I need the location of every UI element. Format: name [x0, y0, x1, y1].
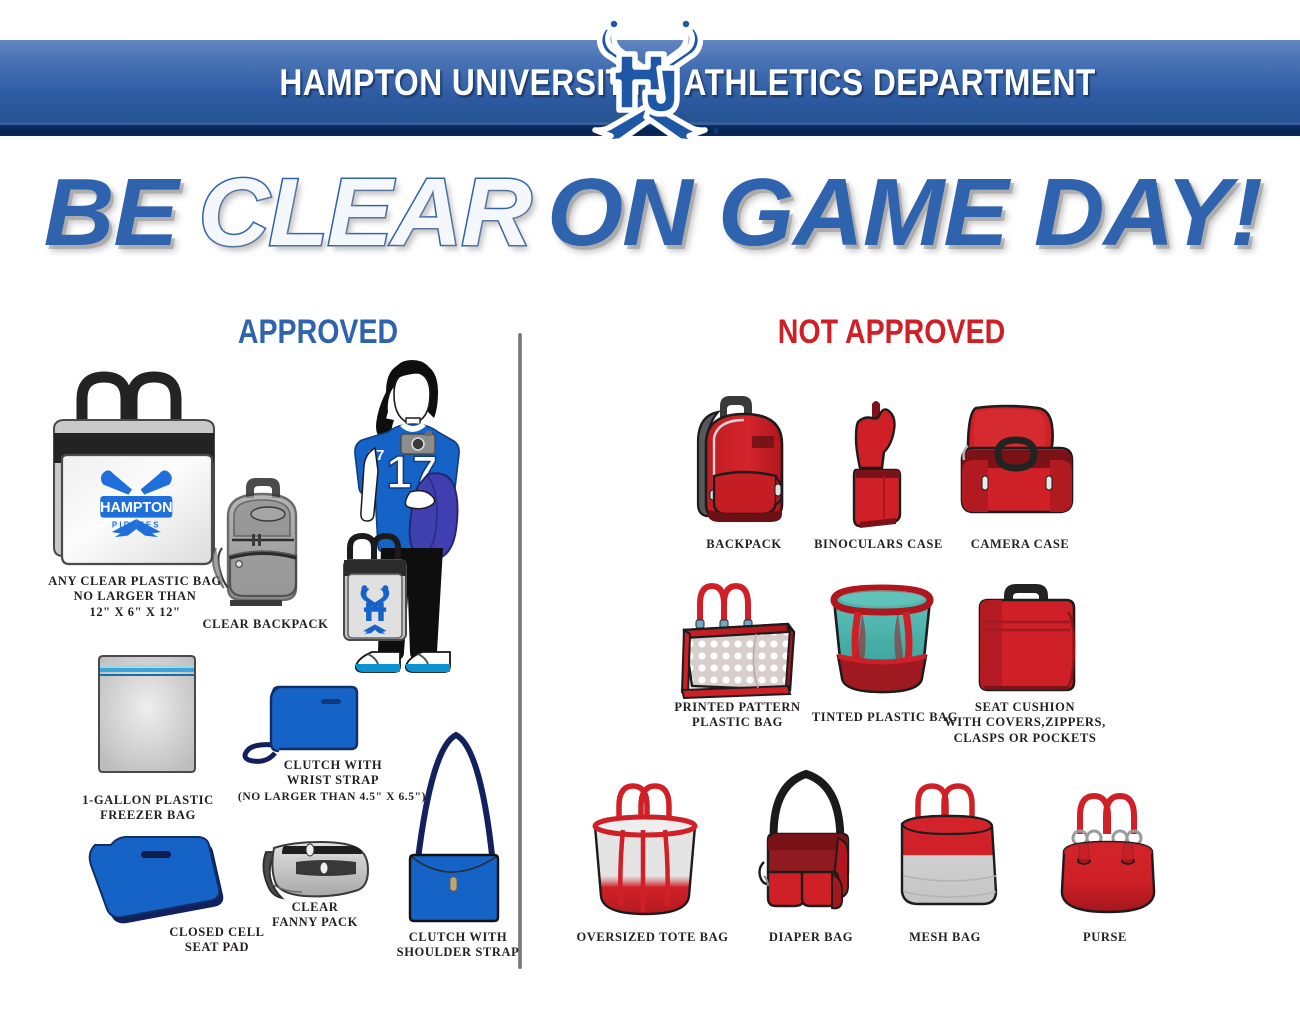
- header-left-text: HAMPTON UNIVERSITY: [279, 62, 563, 104]
- caption-mesh-bag: MESH BAG: [885, 930, 1005, 945]
- printed-pattern-plastic-bag-icon: [672, 578, 802, 703]
- title-word-clear: CLEAR: [199, 165, 531, 261]
- caption-clear-backpack: CLEAR BACKPACK: [198, 617, 333, 632]
- item-camera-case: [948, 400, 1083, 530]
- item-seat-pad: [85, 835, 225, 925]
- diaper-bag-icon: [752, 768, 862, 918]
- backpack-icon: [680, 392, 810, 532]
- clear-tote-bag-icon: HAMPTON PIRATES: [40, 355, 225, 575]
- caption-oversized-tote-bag: OVERSIZED TOTE BAG: [570, 930, 735, 945]
- item-freezer-bag: [95, 650, 200, 780]
- item-binoculars-case: [838, 398, 918, 533]
- item-clear-tote-bag: HAMPTON PIRATES: [40, 355, 225, 575]
- caption-camera-case: CAMERA CASE: [950, 537, 1090, 552]
- caption-binoculars-case: BINOCULARS CASE: [806, 537, 951, 552]
- caption-clutch-shoulder-strap: CLUTCH WITH SHOULDER STRAP: [388, 930, 528, 961]
- page-title: BE CLEAR ON GAME DAY!: [0, 165, 1300, 261]
- camera-case-icon: [948, 400, 1083, 530]
- binoculars-case-icon: [838, 398, 918, 533]
- header-right-text: ATHLETICS DEPARTMENT: [677, 62, 1021, 104]
- item-oversized-tote-bag: [585, 780, 705, 920]
- svg-text:PIRATES: PIRATES: [112, 521, 161, 530]
- item-clear-backpack: [208, 470, 323, 615]
- clutch-wrist-strap-icon: [235, 683, 360, 763]
- oversized-tote-bag-icon: [585, 780, 705, 920]
- item-purse: [1050, 790, 1165, 918]
- caption-backpack: BACKPACK: [673, 537, 815, 552]
- seat-pad-icon: [85, 835, 225, 925]
- seat-cushion-icon: [964, 578, 1084, 698]
- hampton-hu-logo-icon: ®: [573, 12, 727, 146]
- freezer-bag-icon: [95, 650, 200, 780]
- item-printed-pattern-plastic-bag: [672, 578, 802, 703]
- caption-freezer-bag: 1-GALLON PLASTIC FREEZER BAG: [78, 793, 218, 824]
- caption-printed-pattern-plastic-bag: PRINTED PATTERN PLASTIC BAG: [655, 700, 820, 731]
- poster-root: HAMPTON UNIVERSITY ATHLETICS DEPARTMENT …: [0, 0, 1300, 1014]
- caption-seat-cushion: SEAT CUSHION WITH COVERS,ZIPPERS, CLASPS…: [935, 700, 1115, 746]
- item-diaper-bag: [752, 768, 862, 918]
- item-fan-with-clear-bag: 17 17: [348, 352, 488, 712]
- caption-clutch-wrist-strap: CLUTCH WITH WRIST STRAP: [258, 758, 408, 789]
- item-tinted-plastic-bag: [822, 578, 942, 700]
- item-mesh-bag: [888, 782, 1006, 917]
- purse-icon: [1050, 790, 1165, 918]
- caption-diaper-bag: DIAPER BAG: [746, 930, 876, 945]
- clutch-shoulder-strap-icon: [400, 727, 510, 922]
- title-word-be: BE: [44, 165, 178, 261]
- fanny-pack-icon: [258, 838, 373, 908]
- tinted-plastic-bag-icon: [822, 578, 942, 700]
- caption-clear-tote-bag: ANY CLEAR PLASTIC BAG NO LARGER THAN 12"…: [40, 574, 230, 620]
- svg-text:®: ®: [713, 127, 719, 136]
- caption-purse: PURSE: [1055, 930, 1155, 945]
- not-approved-section-heading: NOT APPROVED: [778, 313, 996, 352]
- approved-section-heading: APPROVED: [209, 313, 427, 352]
- item-clutch-wrist-strap: [235, 683, 360, 763]
- item-seat-cushion: [964, 578, 1084, 698]
- section-divider: [518, 333, 522, 969]
- caption-fanny-pack: CLEAR FANNY PACK: [255, 900, 375, 931]
- title-word-on-game-day: ON GAME DAY!: [547, 165, 1262, 261]
- item-fanny-pack: [258, 838, 373, 908]
- item-backpack: [680, 392, 810, 532]
- svg-text:HAMPTON: HAMPTON: [100, 500, 173, 516]
- item-clutch-shoulder-strap: [400, 727, 510, 922]
- mesh-bag-icon: [888, 782, 1006, 917]
- fan-figure-icon: 17 17: [348, 352, 488, 712]
- clear-backpack-icon: [208, 470, 323, 615]
